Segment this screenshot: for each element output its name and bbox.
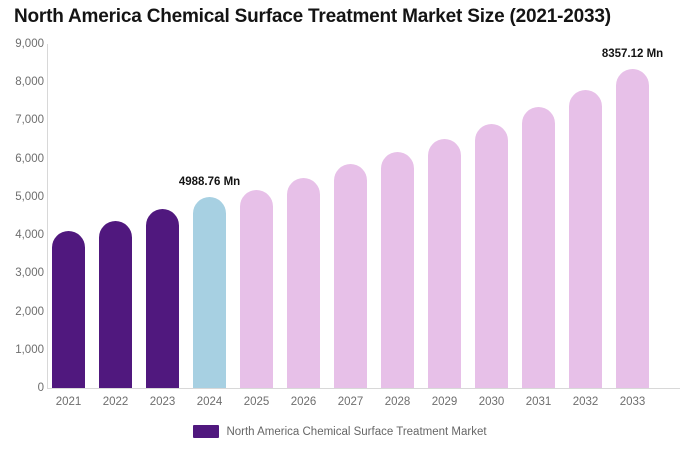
y-axis-tick-label: 6,000 (2, 153, 44, 165)
y-axis-tick-label: 3,000 (2, 267, 44, 279)
x-axis-tick-label: 2030 (479, 396, 505, 408)
x-axis-tick-label: 2028 (385, 396, 411, 408)
bar-2033[interactable] (616, 69, 649, 388)
x-axis-line (47, 388, 680, 389)
bar-2030[interactable] (475, 124, 508, 388)
x-axis-labels: 2021202220232024202520262027202820292030… (47, 396, 680, 414)
x-axis-tick-label: 2022 (103, 396, 129, 408)
chart-legend: North America Chemical Surface Treatment… (0, 425, 680, 438)
x-axis-tick-label: 2031 (526, 396, 552, 408)
y-axis-tick-label: 8,000 (2, 76, 44, 88)
bar-2027[interactable] (334, 164, 367, 388)
y-axis-tick-label: 1,000 (2, 344, 44, 356)
chart-container: North America Chemical Surface Treatment… (0, 0, 680, 450)
legend-label: North America Chemical Surface Treatment… (226, 426, 486, 438)
bar-2029[interactable] (428, 139, 461, 388)
x-axis-tick-label: 2026 (291, 396, 317, 408)
bar-2024[interactable] (193, 197, 226, 388)
x-axis-tick-label: 2032 (573, 396, 599, 408)
x-axis-tick-label: 2021 (56, 396, 82, 408)
y-axis-tick-label: 0 (2, 382, 44, 394)
bar-2025[interactable] (240, 190, 273, 388)
x-axis-tick-label: 2033 (620, 396, 646, 408)
x-axis-tick-label: 2024 (197, 396, 223, 408)
y-axis-tick-label: 5,000 (2, 191, 44, 203)
x-axis-tick-label: 2027 (338, 396, 364, 408)
bar-2028[interactable] (381, 152, 414, 388)
chart-title: North America Chemical Surface Treatment… (14, 6, 674, 28)
y-axis-tick-label: 2,000 (2, 306, 44, 318)
bar-2032[interactable] (569, 90, 602, 389)
y-axis-tick-label: 4,000 (2, 229, 44, 241)
legend-swatch-icon (193, 425, 219, 438)
bar-2026[interactable] (287, 178, 320, 388)
x-axis-tick-label: 2029 (432, 396, 458, 408)
bar-2021[interactable] (52, 231, 85, 388)
x-axis-tick-label: 2025 (244, 396, 270, 408)
y-axis-tick-label: 9,000 (2, 38, 44, 50)
legend-item[interactable]: North America Chemical Surface Treatment… (193, 425, 486, 438)
data-label-2033: 8357.12 Mn (602, 48, 663, 60)
bar-2023[interactable] (146, 209, 179, 388)
bar-2031[interactable] (522, 107, 555, 388)
x-axis-tick-label: 2023 (150, 396, 176, 408)
bar-2022[interactable] (99, 221, 132, 388)
y-axis-labels: 9,0008,0007,0006,0005,0004,0003,0002,000… (0, 0, 44, 450)
y-axis-tick-label: 7,000 (2, 114, 44, 126)
bars-layer: 4988.76 Mn8357.12 Mn (47, 44, 680, 388)
data-label-2024: 4988.76 Mn (179, 176, 240, 188)
